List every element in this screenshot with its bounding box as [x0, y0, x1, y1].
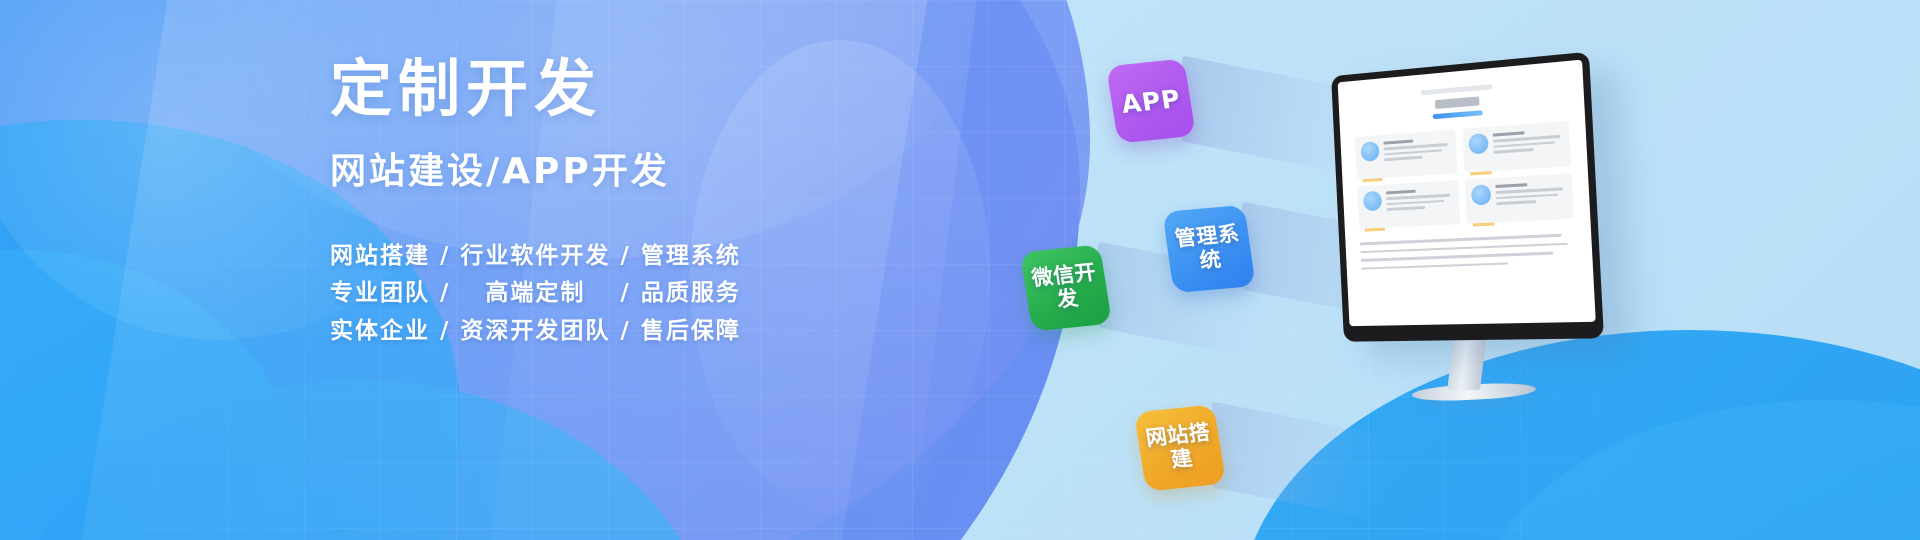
promo-banner: 定制开发 网站建设/APP开发 网站搭建 / 行业软件开发 / 管理系统 专业团…: [0, 0, 1920, 540]
mock-heading-underline: [1433, 110, 1483, 119]
mock-kicker: [1421, 84, 1492, 95]
mock-card: [1462, 121, 1571, 173]
mock-card: [1355, 129, 1457, 179]
monitor-screen: [1338, 60, 1596, 327]
banner-title: 定制开发: [330, 58, 950, 120]
monitor-illustration: [1300, 40, 1620, 460]
tag-app[interactable]: APP: [1106, 58, 1196, 143]
mock-card-text: [1383, 136, 1451, 172]
monitor-frame: [1331, 52, 1604, 342]
mock-card: [1357, 180, 1460, 229]
mock-card-icon: [1470, 184, 1491, 205]
mock-card-icon: [1360, 141, 1379, 162]
feature-list: 网站搭建 / 行业软件开发 / 管理系统 专业团队 / 高端定制 / 品质服务 …: [330, 238, 950, 350]
tag-website[interactable]: 网站搭建: [1134, 404, 1226, 491]
banner-subtitle: 网站建设/APP开发: [330, 154, 950, 190]
copy-block: 定制开发 网站建设/APP开发 网站搭建 / 行业软件开发 / 管理系统 专业团…: [330, 58, 950, 350]
mock-card-text: [1386, 187, 1454, 222]
feature-line-3: 实体企业 / 资深开发团队 / 售后保障: [330, 313, 950, 350]
mock-heading: [1435, 96, 1480, 109]
monitor-stand: [1447, 332, 1487, 390]
mock-paragraph: [1360, 233, 1576, 269]
mock-card: [1464, 173, 1574, 223]
mock-card-icon: [1468, 133, 1488, 154]
tag-wechat[interactable]: 微信开发: [1020, 244, 1112, 331]
mock-card-text: [1492, 127, 1564, 164]
feature-line-1: 网站搭建 / 行业软件开发 / 管理系统: [330, 238, 950, 275]
mock-card-text: [1495, 180, 1568, 216]
mock-card-grid: [1355, 121, 1574, 229]
mock-card-icon: [1363, 191, 1382, 211]
feature-line-2: 专业团队 / 高端定制 / 品质服务: [330, 275, 950, 312]
tag-admin[interactable]: 管理系统: [1162, 205, 1255, 293]
